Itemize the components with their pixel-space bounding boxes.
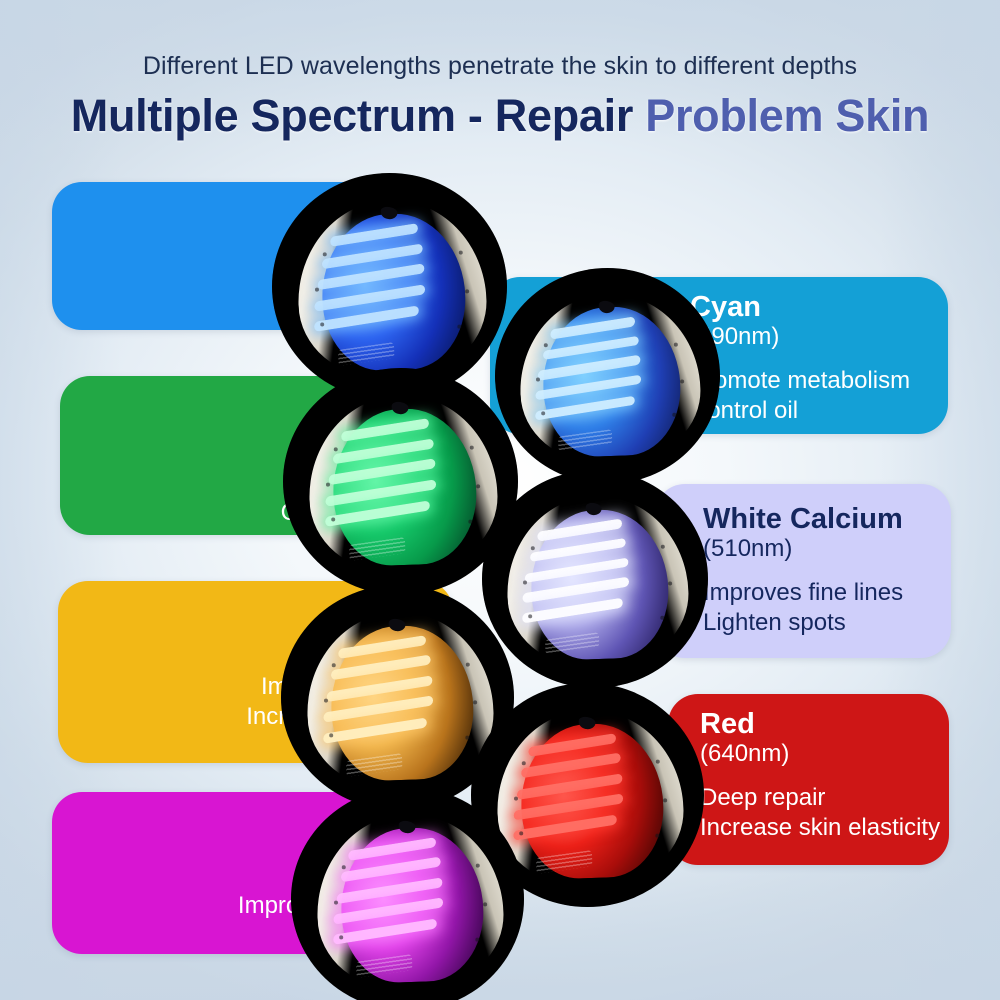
spectrum-benefit-cyan-2: Control oil (690, 396, 960, 426)
led-strip-group (510, 731, 629, 854)
led-mask-dome (295, 197, 489, 381)
led-mask-screws (314, 811, 500, 818)
spectrum-card-red: Red (640nm) Deep repair Increase skin el… (668, 694, 949, 865)
led-spectrum-infographic: Different LED wavelengths penetrate the … (0, 0, 1000, 1000)
led-mask-dome (494, 707, 686, 888)
page-title-primary: Multiple Spectrum - Repair (71, 90, 633, 141)
led-mask-white-photo (482, 470, 708, 688)
page-title-secondary: Problem Skin (645, 90, 929, 141)
led-strip-group (322, 417, 442, 542)
spectrum-name-cyan: Cyan (690, 292, 960, 322)
spectrum-benefit-white-calcium-2: Lighten spots (703, 608, 993, 638)
led-mask-cyan-photo (495, 268, 720, 484)
led-strip-group (320, 633, 439, 756)
led-mask-screws (504, 493, 685, 499)
spectrum-benefit-red-2: Increase skin elasticity (700, 813, 1000, 843)
spectrum-wavelength-red: (640nm) (700, 739, 1000, 770)
spectrum-benefit-cyan-1: Promote metabolism (690, 366, 960, 396)
led-mask-dome (504, 493, 691, 669)
led-mask-dome (314, 811, 506, 992)
led-mask-screws (306, 392, 494, 399)
led-strip-group (532, 314, 647, 433)
led-mask-screws (494, 707, 680, 714)
spectrum-card-cyan-text: Cyan (490nm) Promote metabolism Control … (690, 292, 960, 426)
header-subtitle: Different LED wavelengths penetrate the … (0, 52, 1000, 81)
page-title: Multiple Spectrum - Repair Problem Skin (0, 90, 1000, 142)
spectrum-benefit-white-calcium-1: Improves fine lines (703, 578, 993, 608)
spectrum-wavelength-cyan: (490nm) (690, 322, 960, 353)
led-mask-screws (304, 609, 490, 616)
led-mask-blue-photo (272, 173, 507, 400)
led-mask-dome (517, 291, 703, 466)
led-strip-group (330, 835, 449, 958)
spectrum-name-red: Red (700, 709, 1000, 739)
led-mask-screws (295, 197, 483, 204)
spectrum-card-white-calcium-text: White Calcium (510nm) Improves fine line… (703, 504, 993, 638)
led-strip-group (311, 222, 431, 347)
led-mask-dome (306, 392, 500, 576)
led-mask-screws (517, 291, 697, 297)
spectrum-wavelength-white-calcium: (510nm) (703, 534, 993, 565)
led-mask-purple-photo (291, 787, 524, 1000)
spectrum-benefit-red-1: Deep repair (700, 783, 1000, 813)
spectrum-name-white-calcium: White Calcium (703, 504, 993, 534)
led-mask-dome (304, 609, 496, 791)
spectrum-card-red-text: Red (640nm) Deep repair Increase skin el… (700, 709, 1000, 843)
led-strip-group (520, 517, 635, 637)
